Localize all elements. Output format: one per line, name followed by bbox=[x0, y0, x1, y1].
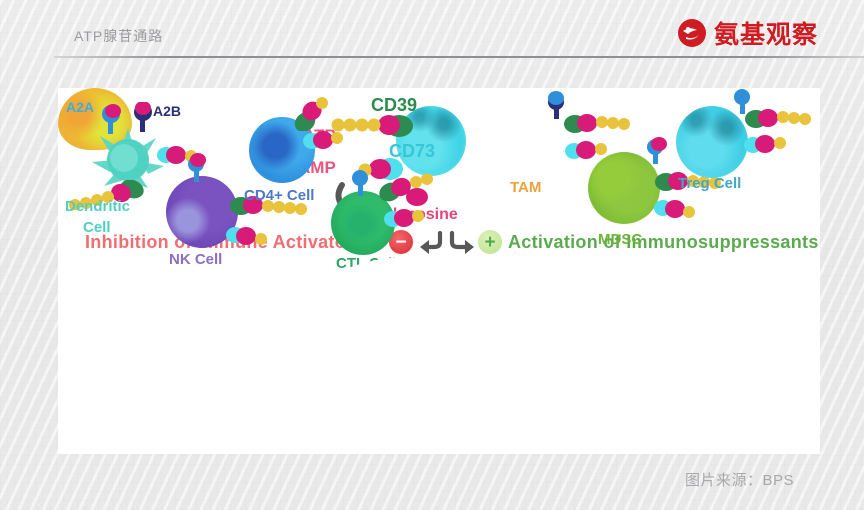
nk-receptor-icon bbox=[185, 152, 209, 182]
plus-symbol: + bbox=[484, 233, 495, 252]
brand-name: 氨基观察 bbox=[714, 15, 818, 51]
dendritic-cell-label-line2: Cell bbox=[83, 219, 111, 236]
circular-logo-icon bbox=[677, 18, 707, 48]
cd4-cell-label: CD4+ Cell bbox=[244, 187, 314, 204]
mdsc-receptor-icon bbox=[643, 136, 675, 164]
ctl-ligand-icon bbox=[382, 205, 438, 231]
cd4-chain-top-icon bbox=[289, 97, 335, 131]
image-source-caption: 图片来源：BPS bbox=[685, 469, 794, 490]
nk-ligand-icon bbox=[224, 224, 280, 248]
ctl-receptor-icon bbox=[348, 168, 374, 196]
nk-cell-label: NK Cell bbox=[169, 251, 222, 268]
slide-header: ATP腺苷通路 氨基观察 bbox=[0, 0, 864, 62]
tam-chain-icon bbox=[563, 108, 633, 136]
ctl-chain-icon bbox=[378, 174, 448, 202]
activation-text: Activation of Immunosuppressants bbox=[508, 232, 819, 253]
a2b-receptor-icon bbox=[132, 102, 154, 132]
page-title: ATP腺苷通路 bbox=[74, 26, 163, 46]
cd4-ligand-icon bbox=[302, 128, 346, 154]
brand-logo: 氨基观察 bbox=[677, 15, 818, 51]
treg-chain-icon bbox=[744, 103, 818, 131]
treg-cell-label: Treg Cell bbox=[678, 175, 741, 192]
a2a-receptor-icon bbox=[100, 104, 122, 134]
plus-badge-icon: + bbox=[478, 230, 502, 254]
figure-card: CD39 CD73 ATP AMP Adenosine Inhibition o… bbox=[58, 88, 820, 454]
a2b-label: A2B bbox=[153, 103, 181, 119]
header-divider bbox=[54, 56, 864, 58]
bidirectional-hook-arrows-icon bbox=[418, 229, 480, 255]
mdsc-cell-label: MDSC bbox=[598, 231, 642, 248]
mdsc-ligand-icon bbox=[652, 196, 708, 222]
minus-symbol: − bbox=[395, 233, 406, 252]
a2a-label: A2A bbox=[66, 99, 94, 115]
tam-cell-label: TAM bbox=[510, 179, 541, 196]
treg-ligand-icon bbox=[742, 132, 798, 158]
treg-cell bbox=[676, 106, 748, 178]
dendritic-cell-label-line1: Dendritic bbox=[65, 198, 130, 215]
